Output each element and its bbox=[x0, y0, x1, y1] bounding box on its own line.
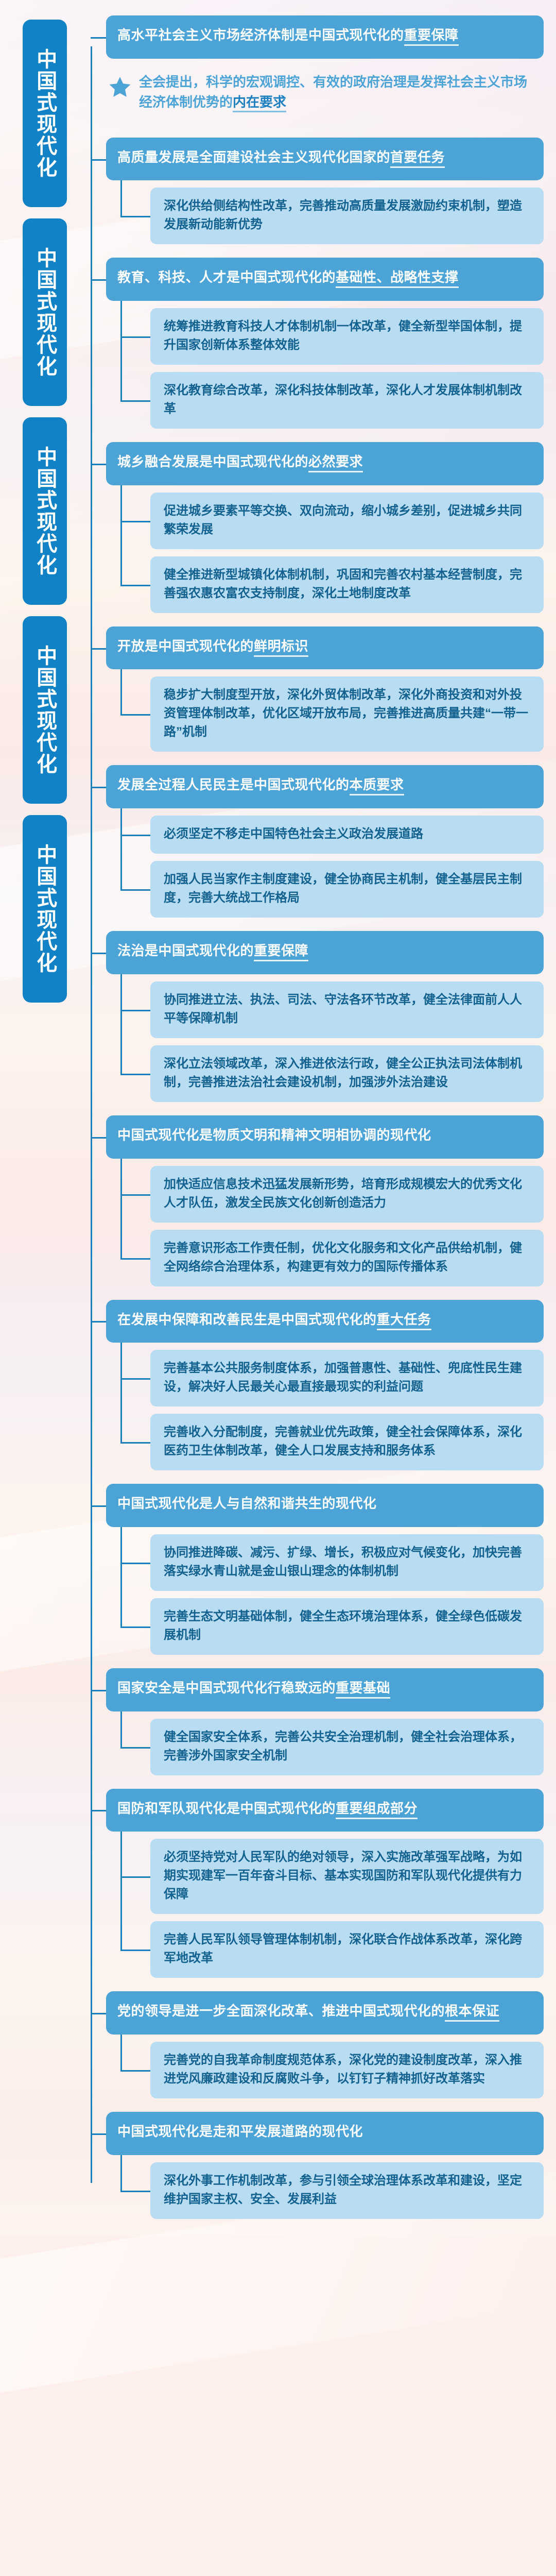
highlight-note: 全会提出，科学的宏观调控、有效的政府治理是发挥社会主义市场经济体制优势的内在要求 bbox=[106, 59, 544, 124]
sub-items-container: 协同推进降碳、减污、扩绿、增长，积极应对气候变化，加快完善落实绿水青山就是金山银… bbox=[150, 1534, 544, 1655]
sub-item-card[interactable]: 深化外事工作机制改革，参与引领全球治理体系改革和建设，坚定维护国家主权、安全、发… bbox=[150, 2162, 544, 2219]
topic-group: 在发展中保障和改善民生是中国式现代化的重大任务完善基本公共服务制度体系，加强普惠… bbox=[106, 1300, 544, 1471]
sub-spine-line bbox=[120, 974, 122, 1074]
rail-title-block: 中国式现代化 bbox=[23, 20, 67, 207]
heading-plain-part: 中国式现代化是走和平发展道路的现代化 bbox=[117, 2124, 363, 2139]
highlight-note-text: 全会提出，科学的宏观调控、有效的政府治理是发挥社会主义市场经济体制优势的内在要求 bbox=[139, 72, 538, 113]
topic-group: 发展全过程人民民主是中国式现代化的本质要求必须坚定不移走中国特色社会主义政治发展… bbox=[106, 765, 544, 918]
rail-title-block: 中国式现代化 bbox=[23, 417, 67, 605]
sub-spine-line bbox=[120, 2155, 122, 2191]
sub-items-container: 完善基本公共服务制度体系，加强普惠性、基础性、兜底性民生建设，解决好人民最关心最… bbox=[150, 1350, 544, 1470]
infographic-layout: 中国式现代化中国式现代化中国式现代化中国式现代化中国式现代化 高水平社会主义市场… bbox=[12, 15, 544, 2219]
star-icon bbox=[108, 75, 132, 99]
sub-spine-line bbox=[120, 669, 122, 714]
topic-heading-card[interactable]: 高质量发展是全面建设社会主义现代化国家的首要任务 bbox=[106, 138, 544, 181]
heading-plain-part: 高水平社会主义市场经济体制是中国式现代化的 bbox=[117, 27, 404, 43]
note-emphasis-part: 内在要求 bbox=[233, 94, 286, 112]
sub-items-container: 统筹推进教育科技人才体制机制一体改革，健全新型举国体制，提升国家创新体系整体效能… bbox=[150, 308, 544, 429]
topic-heading-card[interactable]: 高水平社会主义市场经济体制是中国式现代化的重要保障 bbox=[106, 15, 544, 59]
topic-heading-card[interactable]: 发展全过程人民民主是中国式现代化的本质要求 bbox=[106, 765, 544, 808]
connector-spine bbox=[77, 15, 106, 2219]
topic-heading-text: 中国式现代化是走和平发展道路的现代化 bbox=[117, 2122, 532, 2142]
sub-items-container: 必须坚定不移走中国特色社会主义政治发展道路加强人民当家作主制度建设，健全协商民主… bbox=[150, 816, 544, 918]
topic-heading-card[interactable]: 中国式现代化是物质文明和精神文明相协调的现代化 bbox=[106, 1115, 544, 1159]
note-plain-part: 全会提出，科学的宏观调控、有效的政府治理是发挥社会主义市场经济体制优势的 bbox=[139, 74, 527, 110]
infographic-page: 中国式现代化中国式现代化中国式现代化中国式现代化中国式现代化 高水平社会主义市场… bbox=[0, 0, 556, 2236]
topic-group: 教育、科技、人才是中国式现代化的基础性、战略性支撑统筹推进教育科技人才体制机制一… bbox=[106, 258, 544, 429]
sub-spine-line bbox=[120, 1711, 122, 1747]
sub-item-card[interactable]: 完善人民军队领导管理体制机制，深化联合作战体系改革，深化跨军地改革 bbox=[150, 1921, 544, 1978]
left-title-rail: 中国式现代化中国式现代化中国式现代化中国式现代化中国式现代化 bbox=[12, 15, 77, 2219]
sub-item-card[interactable]: 完善意识形态工作责任制，优化文化服务和文化产品供给机制，健全网络综合治理体系，构… bbox=[150, 1230, 544, 1286]
sub-items-container: 促进城乡要素平等交换、双向流动，缩小城乡差别，促进城乡共同繁荣发展健全推进新型城… bbox=[150, 493, 544, 613]
topic-heading-text: 国防和军队现代化是中国式现代化的重要组成部分 bbox=[117, 1799, 532, 1819]
sub-item-card[interactable]: 统筹推进教育科技人才体制机制一体改革，健全新型举国体制，提升国家创新体系整体效能 bbox=[150, 308, 544, 365]
sub-spine-line bbox=[120, 1343, 122, 1442]
sub-item-card[interactable]: 完善基本公共服务制度体系，加强普惠性、基础性、兜底性民生建设，解决好人民最关心最… bbox=[150, 1350, 544, 1406]
topic-group: 国防和军队现代化是中国式现代化的重要组成部分必须坚持党对人民军队的绝对领导，深入… bbox=[106, 1789, 544, 1978]
groups-container: 高水平社会主义市场经济体制是中国式现代化的重要保障全会提出，科学的宏观调控、有效… bbox=[106, 15, 544, 2219]
sub-item-card[interactable]: 完善收入分配制度，完善就业优先政策，健全社会保障体系，深化医药卫生体制改革，健全… bbox=[150, 1414, 544, 1470]
sub-items-container: 完善党的自我革命制度规范体系，深化党的建设制度改革，深入推进党风廉政建设和反腐败… bbox=[150, 2042, 544, 2098]
heading-emphasis-part: 根本保证 bbox=[445, 2003, 499, 2022]
topic-heading-text: 高水平社会主义市场经济体制是中国式现代化的重要保障 bbox=[117, 26, 532, 45]
spine-line bbox=[91, 46, 92, 2183]
sub-spine-line bbox=[120, 485, 122, 585]
sub-item-card[interactable]: 健全国家安全体系，完善公共安全治理机制，健全社会治理体系，完善涉外国家安全机制 bbox=[150, 1719, 544, 1775]
sub-item-card[interactable]: 深化教育综合改革，深化科技体制改革，深化人才发展体制机制改革 bbox=[150, 372, 544, 429]
topic-heading-card[interactable]: 中国式现代化是人与自然和谐共生的现代化 bbox=[106, 1484, 544, 1527]
heading-plain-part: 在发展中保障和改善民生是中国式现代化的 bbox=[117, 1312, 377, 1327]
sub-spine-line bbox=[120, 301, 122, 400]
topic-heading-text: 党的领导是进一步全面深化改革、推进中国式现代化的根本保证 bbox=[117, 2002, 532, 2021]
sub-item-card[interactable]: 促进城乡要素平等交换、双向流动，缩小城乡差别，促进城乡共同繁荣发展 bbox=[150, 493, 544, 549]
topic-heading-text: 高质量发展是全面建设社会主义现代化国家的首要任务 bbox=[117, 148, 532, 167]
topic-group: 党的领导是进一步全面深化改革、推进中国式现代化的根本保证完善党的自我革命制度规范… bbox=[106, 1991, 544, 2098]
topic-heading-card[interactable]: 在发展中保障和改善民生是中国式现代化的重大任务 bbox=[106, 1300, 544, 1343]
sub-item-card[interactable]: 稳步扩大制度型开放，深化外贸体制改革，深化外商投资和对外投资管理体制改革，优化区… bbox=[150, 676, 544, 752]
topic-heading-text: 开放是中国式现代化的鲜明标识 bbox=[117, 637, 532, 656]
heading-plain-part: 国家安全是中国式现代化行稳致远的 bbox=[117, 1680, 336, 1696]
topic-group: 开放是中国式现代化的鲜明标识稳步扩大制度型开放，深化外贸体制改革，深化外商投资和… bbox=[106, 626, 544, 752]
topic-heading-text: 中国式现代化是物质文明和精神文明相协调的现代化 bbox=[117, 1126, 532, 1145]
heading-plain-part: 城乡融合发展是中国式现代化的 bbox=[117, 454, 308, 469]
sub-items-container: 必须坚持党对人民军队的绝对领导，深入实施改革强军战略，为如期实现建军一百年奋斗目… bbox=[150, 1839, 544, 1978]
topic-group: 高水平社会主义市场经济体制是中国式现代化的重要保障全会提出，科学的宏观调控、有效… bbox=[106, 15, 544, 124]
sub-item-card[interactable]: 加快适应信息技术迅猛发展新形势，培育形成规模宏大的优秀文化人才队伍，激发全民族文… bbox=[150, 1166, 544, 1223]
topic-heading-text: 国家安全是中国式现代化行稳致远的重要基础 bbox=[117, 1679, 532, 1698]
topic-heading-text: 发展全过程人民民主是中国式现代化的本质要求 bbox=[117, 775, 532, 795]
rail-title-block: 中国式现代化 bbox=[23, 815, 67, 1003]
sub-spine-line bbox=[120, 1527, 122, 1626]
heading-emphasis-part: 鲜明标识 bbox=[254, 638, 308, 657]
sub-item-card[interactable]: 协同推进立法、执法、司法、守法各环节改革，健全法律面前人人平等保障机制 bbox=[150, 981, 544, 1038]
sub-item-card[interactable]: 加强人民当家作主制度建设，健全协商民主机制，健全基层民主制度，完善大统战工作格局 bbox=[150, 861, 544, 918]
sub-items-container: 健全国家安全体系，完善公共安全治理机制，健全社会治理体系，完善涉外国家安全机制 bbox=[150, 1719, 544, 1775]
sub-items-container: 加快适应信息技术迅猛发展新形势，培育形成规模宏大的优秀文化人才队伍，激发全民族文… bbox=[150, 1166, 544, 1286]
sub-item-card[interactable]: 健全推进新型城镇化体制机制，巩固和完善农村基本经营制度，完善强农惠农富农支持制度… bbox=[150, 556, 544, 613]
sub-item-card[interactable]: 深化供给侧结构性改革，完善推动高质量发展激励约束机制，塑造发展新动能新优势 bbox=[150, 188, 544, 244]
heading-plain-part: 高质量发展是全面建设社会主义现代化国家的 bbox=[117, 149, 390, 165]
topic-heading-card[interactable]: 开放是中国式现代化的鲜明标识 bbox=[106, 626, 544, 670]
sub-item-card[interactable]: 必须坚持党对人民军队的绝对领导，深入实施改革强军战略，为如期实现建军一百年奋斗目… bbox=[150, 1839, 544, 1914]
heading-plain-part: 国防和军队现代化是中国式现代化的 bbox=[117, 1801, 336, 1816]
heading-emphasis-part: 首要任务 bbox=[390, 149, 445, 168]
heading-emphasis-part: 重大任务 bbox=[377, 1312, 431, 1330]
sub-item-card[interactable]: 必须坚定不移走中国特色社会主义政治发展道路 bbox=[150, 816, 544, 854]
heading-emphasis-part: 本质要求 bbox=[350, 777, 404, 795]
sub-spine-line bbox=[120, 1832, 122, 1950]
topic-group: 高质量发展是全面建设社会主义现代化国家的首要任务深化供给侧结构性改革，完善推动高… bbox=[106, 138, 544, 245]
topic-heading-text: 在发展中保障和改善民生是中国式现代化的重大任务 bbox=[117, 1310, 532, 1330]
sub-items-container: 深化供给侧结构性改革，完善推动高质量发展激励约束机制，塑造发展新动能新优势 bbox=[150, 188, 544, 244]
sub-items-container: 协同推进立法、执法、司法、守法各环节改革，健全法律面前人人平等保障机制深化立法领… bbox=[150, 981, 544, 1102]
topic-heading-card[interactable]: 国防和军队现代化是中国式现代化的重要组成部分 bbox=[106, 1789, 544, 1832]
topic-heading-card[interactable]: 法治是中国式现代化的重要保障 bbox=[106, 931, 544, 974]
topic-heading-card[interactable]: 中国式现代化是走和平发展道路的现代化 bbox=[106, 2112, 544, 2155]
sub-item-card[interactable]: 深化立法领域改革，深入推进依法行政，健全公正执法司法体制机制，完善推进法治社会建… bbox=[150, 1045, 544, 1102]
topic-heading-card[interactable]: 教育、科技、人才是中国式现代化的基础性、战略性支撑 bbox=[106, 258, 544, 301]
sub-spine-line bbox=[120, 808, 122, 889]
topic-group: 中国式现代化是走和平发展道路的现代化深化外事工作机制改革，参与引领全球治理体系改… bbox=[106, 2112, 544, 2219]
sub-item-card[interactable]: 完善党的自我革命制度规范体系，深化党的建设制度改革，深入推进党风廉政建设和反腐败… bbox=[150, 2042, 544, 2098]
sub-item-card[interactable]: 协同推进降碳、减污、扩绿、增长，积极应对气候变化，加快完善落实绿水青山就是金山银… bbox=[150, 1534, 544, 1591]
heading-plain-part: 中国式现代化是人与自然和谐共生的现代化 bbox=[117, 1496, 377, 1511]
sub-items-container: 稳步扩大制度型开放，深化外贸体制改革，深化外商投资和对外投资管理体制改革，优化区… bbox=[150, 676, 544, 752]
topic-group: 中国式现代化是人与自然和谐共生的现代化协同推进降碳、减污、扩绿、增长，积极应对气… bbox=[106, 1484, 544, 1655]
topic-heading-card[interactable]: 党的领导是进一步全面深化改革、推进中国式现代化的根本保证 bbox=[106, 1991, 544, 2035]
rail-title-block: 中国式现代化 bbox=[23, 616, 67, 804]
sub-items-container: 深化外事工作机制改革，参与引领全球治理体系改革和建设，坚定维护国家主权、安全、发… bbox=[150, 2162, 544, 2219]
topic-group: 中国式现代化是物质文明和精神文明相协调的现代化加快适应信息技术迅猛发展新形势，培… bbox=[106, 1115, 544, 1286]
topic-group: 国家安全是中国式现代化行稳致远的重要基础健全国家安全体系，完善公共安全治理机制，… bbox=[106, 1668, 544, 1775]
topic-group: 城乡融合发展是中国式现代化的必然要求促进城乡要素平等交换、双向流动，缩小城乡差别… bbox=[106, 442, 544, 613]
heading-emphasis-part: 重要保障 bbox=[404, 27, 459, 46]
sub-spine-line bbox=[120, 180, 122, 216]
heading-plain-part: 教育、科技、人才是中国式现代化的 bbox=[117, 269, 336, 285]
topic-heading-text: 中国式现代化是人与自然和谐共生的现代化 bbox=[117, 1494, 532, 1514]
heading-plain-part: 党的领导是进一步全面深化改革、推进中国式现代化的 bbox=[117, 2003, 445, 2019]
topic-group: 法治是中国式现代化的重要保障协同推进立法、执法、司法、守法各环节改革，健全法律面… bbox=[106, 931, 544, 1102]
topic-heading-card[interactable]: 国家安全是中国式现代化行稳致远的重要基础 bbox=[106, 1668, 544, 1711]
heading-plain-part: 法治是中国式现代化的 bbox=[117, 943, 254, 958]
rail-title-block: 中国式现代化 bbox=[23, 218, 67, 406]
heading-plain-part: 中国式现代化是物质文明和精神文明相协调的现代化 bbox=[117, 1127, 431, 1143]
topic-heading-text: 城乡融合发展是中国式现代化的必然要求 bbox=[117, 452, 532, 472]
sub-spine-line bbox=[120, 2035, 122, 2070]
heading-emphasis-part: 基础性、战略性支撑 bbox=[336, 269, 459, 288]
topic-heading-text: 法治是中国式现代化的重要保障 bbox=[117, 941, 532, 961]
heading-plain-part: 发展全过程人民民主是中国式现代化的 bbox=[117, 777, 350, 792]
sub-spine-line bbox=[120, 1159, 122, 1258]
topic-heading-card[interactable]: 城乡融合发展是中国式现代化的必然要求 bbox=[106, 442, 544, 485]
sub-item-card[interactable]: 完善生态文明基础体制，健全生态环境治理体系，健全绿色低碳发展机制 bbox=[150, 1598, 544, 1655]
heading-emphasis-part: 重要组成部分 bbox=[336, 1801, 418, 1819]
heading-emphasis-part: 重要保障 bbox=[254, 943, 308, 961]
heading-emphasis-part: 必然要求 bbox=[308, 454, 363, 472]
topic-heading-text: 教育、科技、人才是中国式现代化的基础性、战略性支撑 bbox=[117, 268, 532, 287]
heading-plain-part: 开放是中国式现代化的 bbox=[117, 638, 254, 654]
heading-emphasis-part: 重要基础 bbox=[336, 1680, 390, 1699]
